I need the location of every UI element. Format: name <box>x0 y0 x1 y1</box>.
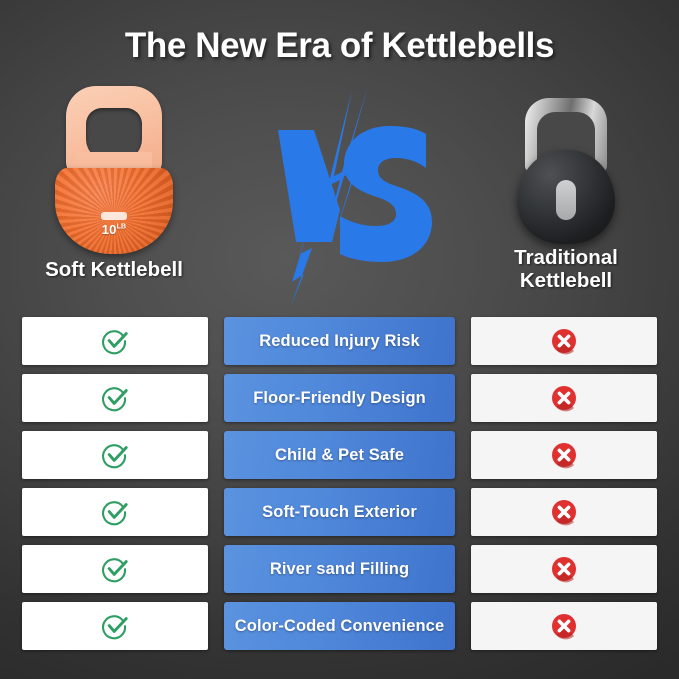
product-left-caption: Soft Kettlebell <box>8 258 220 281</box>
soft-kettlebell-cell <box>22 488 208 536</box>
red-x-circle-icon <box>550 498 578 526</box>
table-row: River sand Filling <box>0 545 679 593</box>
feature-pill: River sand Filling <box>224 545 455 593</box>
feature-label: Child & Pet Safe <box>275 446 404 465</box>
traditional-kettlebell-cell <box>471 431 657 479</box>
red-x-circle-icon <box>550 327 578 355</box>
soft-kettlebell-cell <box>22 374 208 422</box>
product-right-caption: Traditional Kettlebell <box>460 246 672 292</box>
green-check-circle-icon <box>100 554 130 584</box>
feature-label: River sand Filling <box>270 560 409 579</box>
feature-label: Reduced Injury Risk <box>259 332 420 351</box>
soft-kettlebell-texture <box>55 168 173 254</box>
traditional-kettlebell-stage <box>460 82 672 254</box>
soft-kettlebell-cell <box>22 317 208 365</box>
traditional-kettlebell-cell <box>471 374 657 422</box>
traditional-kettlebell-image <box>503 98 629 244</box>
feature-pill: Soft-Touch Exterior <box>224 488 455 536</box>
comparison-table: Reduced Injury Risk Floor-Friendly Desig… <box>0 317 679 659</box>
product-left: 10LB Soft Kettlebell <box>8 82 220 308</box>
soft-kettlebell-image: 10LB <box>49 86 179 254</box>
versus-block <box>240 82 440 308</box>
table-row: Child & Pet Safe <box>0 431 679 479</box>
comparison-poster: The New Era of Kettlebells 10LB Soft Ket… <box>0 0 679 679</box>
traditional-kettlebell-badge <box>556 180 576 220</box>
weight-unit: LB <box>117 224 127 231</box>
traditional-kettlebell-cell <box>471 602 657 650</box>
red-x-circle-icon <box>550 612 578 640</box>
feature-label: Floor-Friendly Design <box>253 389 426 408</box>
table-row: Reduced Injury Risk <box>0 317 679 365</box>
red-x-circle-icon <box>550 555 578 583</box>
hero-section: 10LB Soft Kettlebell <box>0 82 679 308</box>
table-row: Floor-Friendly Design <box>0 374 679 422</box>
feature-pill: Reduced Injury Risk <box>224 317 455 365</box>
soft-kettlebell-stage: 10LB <box>8 82 220 254</box>
traditional-kettlebell-cell <box>471 317 657 365</box>
feature-pill: Color-Coded Convenience <box>224 602 455 650</box>
red-x-circle-icon <box>550 441 578 469</box>
brand-logo-icon <box>101 212 127 220</box>
weight-value: 10 <box>102 222 117 237</box>
traditional-kettlebell-cell <box>471 545 657 593</box>
soft-kettlebell-cell <box>22 545 208 593</box>
page-title: The New Era of Kettlebells <box>0 26 679 66</box>
feature-pill: Floor-Friendly Design <box>224 374 455 422</box>
weight-label: 10LB <box>55 222 173 237</box>
soft-kettlebell-cell <box>22 431 208 479</box>
soft-kettlebell-body: 10LB <box>55 168 173 254</box>
table-row: Soft-Touch Exterior <box>0 488 679 536</box>
feature-label: Color-Coded Convenience <box>235 617 444 636</box>
traditional-kettlebell-cell <box>471 488 657 536</box>
vs-lightning-icon <box>240 82 440 308</box>
soft-kettlebell-cell <box>22 602 208 650</box>
red-x-circle-icon <box>550 384 578 412</box>
table-row: Color-Coded Convenience <box>0 602 679 650</box>
green-check-circle-icon <box>100 611 130 641</box>
green-check-circle-icon <box>100 497 130 527</box>
traditional-kettlebell-body <box>517 150 615 244</box>
green-check-circle-icon <box>100 440 130 470</box>
green-check-circle-icon <box>100 383 130 413</box>
feature-pill: Child & Pet Safe <box>224 431 455 479</box>
green-check-circle-icon <box>100 326 130 356</box>
feature-label: Soft-Touch Exterior <box>262 503 417 522</box>
product-right: Traditional Kettlebell <box>460 82 672 308</box>
product-right-caption-line2: Kettlebell <box>520 269 612 292</box>
versus-graphic <box>240 82 440 308</box>
product-right-caption-line1: Traditional <box>514 246 618 269</box>
